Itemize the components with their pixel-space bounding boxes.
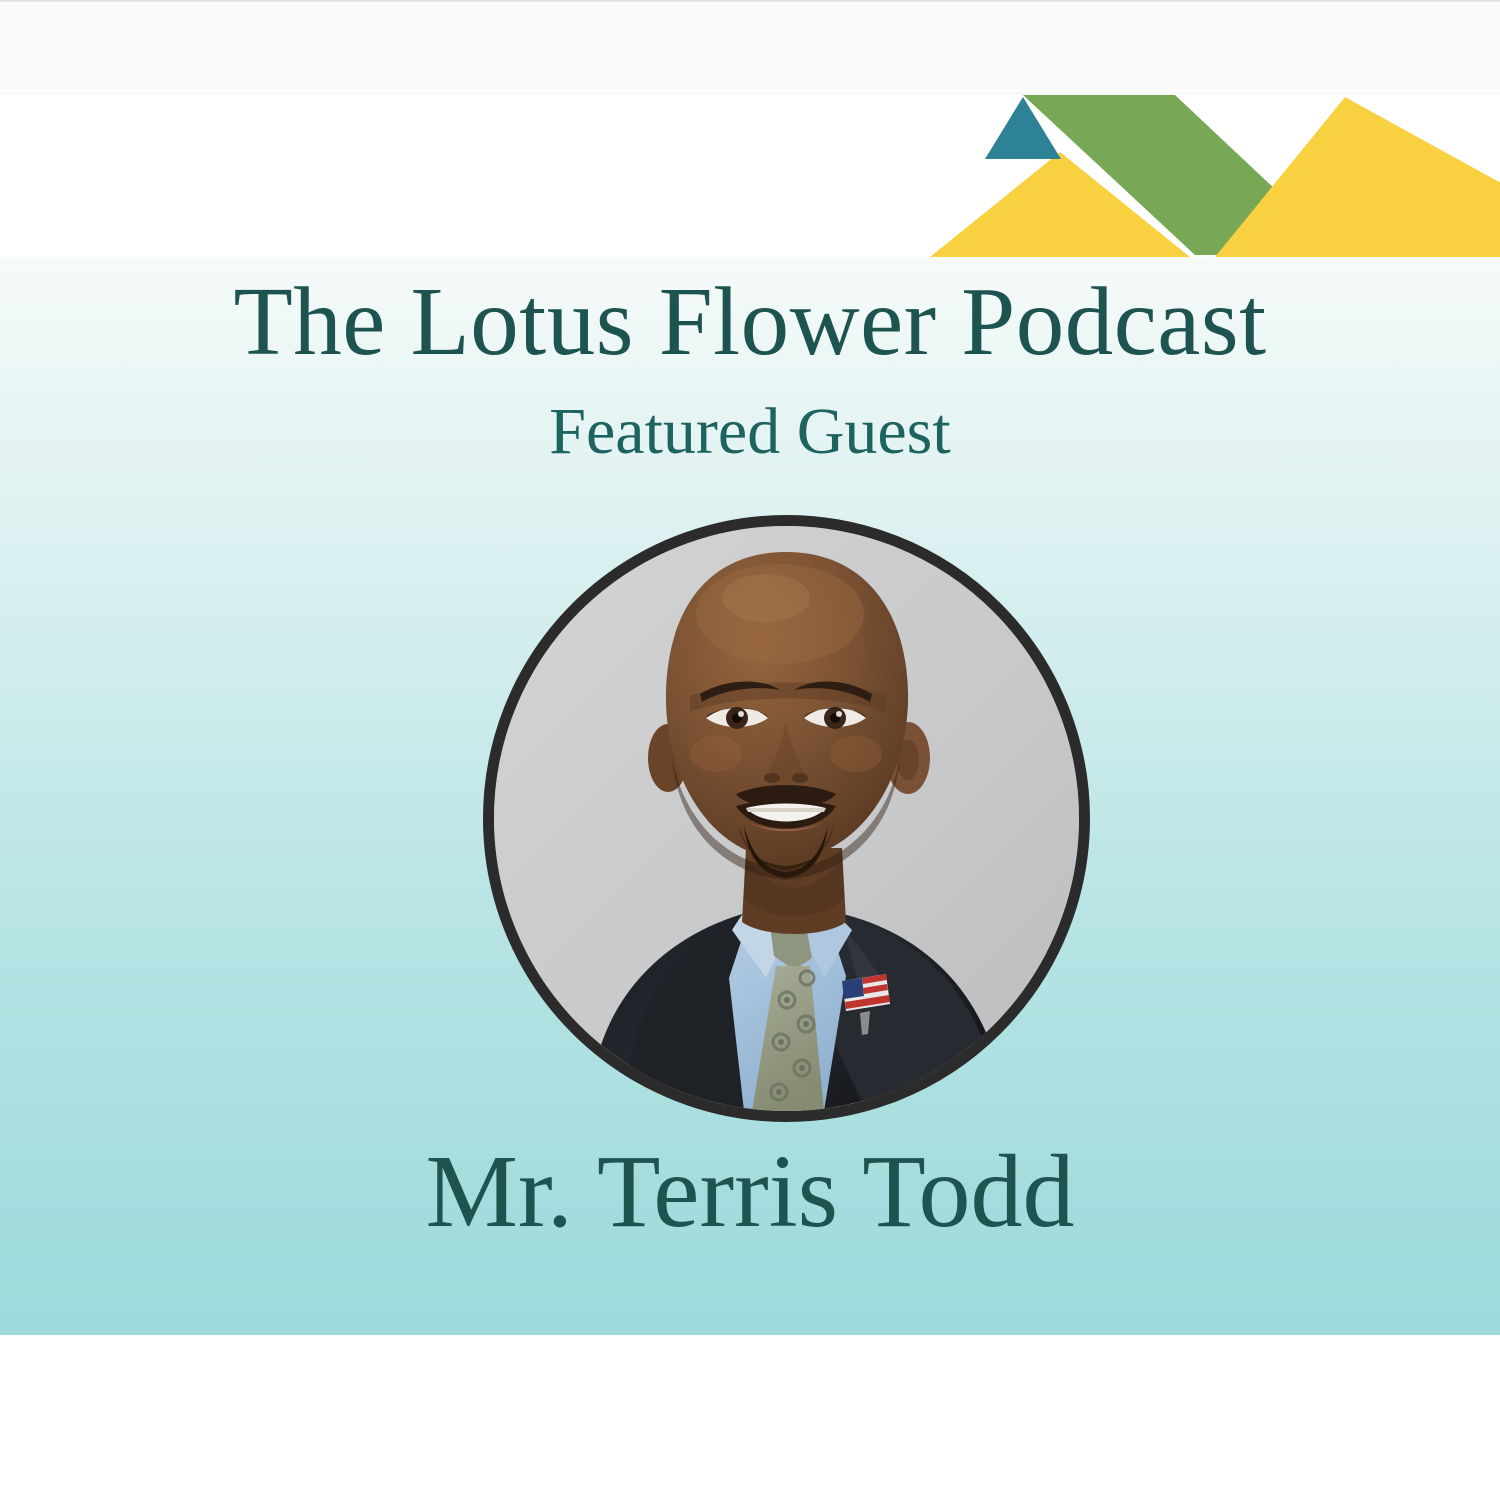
- guest-portrait-illustration: [494, 526, 1079, 1111]
- logo-teal-triangle-icon: [985, 97, 1061, 159]
- page-subtitle: Featured Guest: [0, 397, 1500, 466]
- logo-band: [0, 95, 1500, 257]
- guest-name: Mr. Terris Todd: [0, 1137, 1500, 1246]
- top-chrome-bar: [0, 0, 1500, 95]
- podcast-cover-card: The Lotus Flower Podcast Featured Guest: [0, 257, 1500, 1335]
- page-title: The Lotus Flower Podcast: [0, 271, 1500, 373]
- logo-yellow-right-triangle-icon: [1215, 97, 1500, 257]
- logo-yellow-left-triangle-icon: [930, 152, 1190, 257]
- guest-portrait-avatar: [483, 515, 1090, 1122]
- bottom-white-area: [0, 1335, 1500, 1500]
